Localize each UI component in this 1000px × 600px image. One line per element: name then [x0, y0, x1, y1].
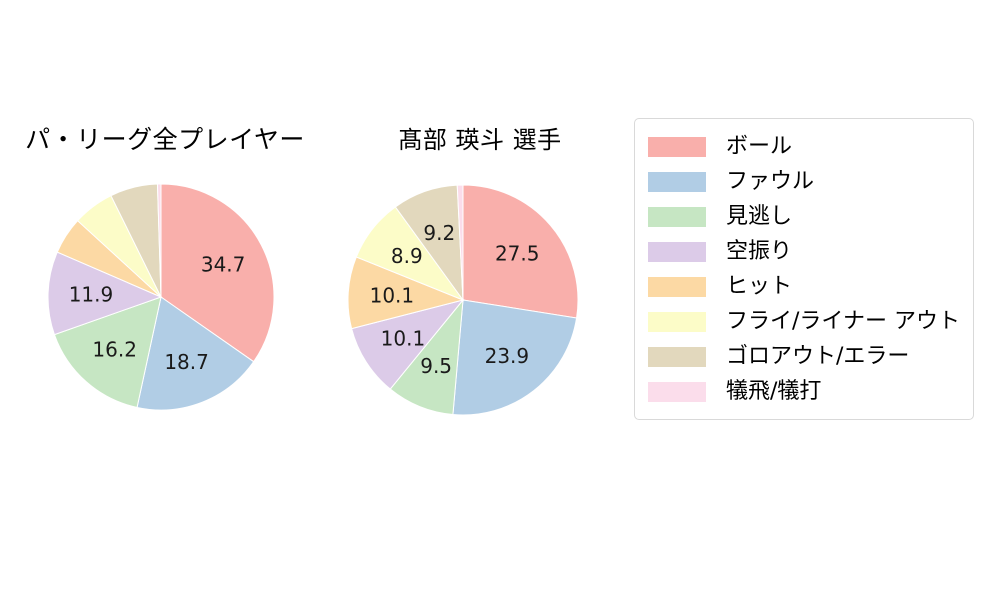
- legend-item-label: ボール: [726, 136, 792, 158]
- legend-item[interactable]: フライ/ライナー アウト: [648, 304, 961, 339]
- legend-item-label: フライ/ライナー アウト: [726, 311, 960, 333]
- pie-slice-value-label: 16.2: [92, 338, 137, 362]
- legend-item[interactable]: 空振り: [648, 234, 961, 269]
- pie-slice-value-label: 27.5: [495, 242, 540, 266]
- pie-slice-value-label: 18.7: [164, 350, 209, 374]
- legend-item[interactable]: 見逃し: [648, 199, 961, 234]
- league-pie-panel: パ・リーグ全プレイヤー 34.718.716.211.9: [0, 0, 330, 600]
- pie-chart-figure: パ・リーグ全プレイヤー 34.718.716.211.9 髙部 瑛斗 選手 27…: [0, 0, 1000, 600]
- legend-item-label: ファウル: [726, 171, 814, 193]
- pie-slice-value-label: 34.7: [201, 253, 246, 277]
- legend-swatch-icon: [648, 277, 706, 297]
- pie-slice-value-label: 23.9: [485, 344, 530, 368]
- legend-item[interactable]: 犠飛/犠打: [648, 374, 961, 409]
- legend-swatch-icon: [648, 242, 706, 262]
- pie-slice-value-label: 8.9: [391, 244, 423, 268]
- legend-swatch-icon: [648, 347, 706, 367]
- pie-slice-value-label: 9.2: [423, 221, 455, 245]
- legend-item-label: ゴロアウト/エラー: [726, 346, 909, 368]
- player-pie-svg: 27.523.99.510.110.18.99.2: [330, 0, 630, 600]
- legend-item[interactable]: ファウル: [648, 164, 961, 199]
- legend-item[interactable]: ボール: [648, 129, 961, 164]
- legend-item-label: 空振り: [726, 241, 792, 263]
- pie-slice-value-label: 9.5: [420, 354, 452, 378]
- league-pie-svg: 34.718.716.211.9: [0, 0, 330, 600]
- legend-swatch-icon: [648, 207, 706, 227]
- pie-slice-value-label: 10.1: [381, 326, 426, 350]
- legend-item[interactable]: ヒット: [648, 269, 961, 304]
- legend-swatch-icon: [648, 137, 706, 157]
- legend-item-label: 犠飛/犠打: [726, 381, 821, 403]
- legend-swatch-icon: [648, 172, 706, 192]
- legend-box: ボールファウル見逃し空振りヒットフライ/ライナー アウトゴロアウト/エラー犠飛/…: [634, 118, 974, 420]
- legend-item[interactable]: ゴロアウト/エラー: [648, 339, 961, 374]
- player-pie-panel: 髙部 瑛斗 選手 27.523.99.510.110.18.99.2: [330, 0, 630, 600]
- legend-item-label: 見逃し: [726, 206, 792, 228]
- legend-swatch-icon: [648, 312, 706, 332]
- legend-item-label: ヒット: [726, 276, 792, 298]
- pie-slice-value-label: 11.9: [69, 283, 114, 307]
- legend-swatch-icon: [648, 382, 706, 402]
- pie-slice-value-label: 10.1: [370, 283, 415, 307]
